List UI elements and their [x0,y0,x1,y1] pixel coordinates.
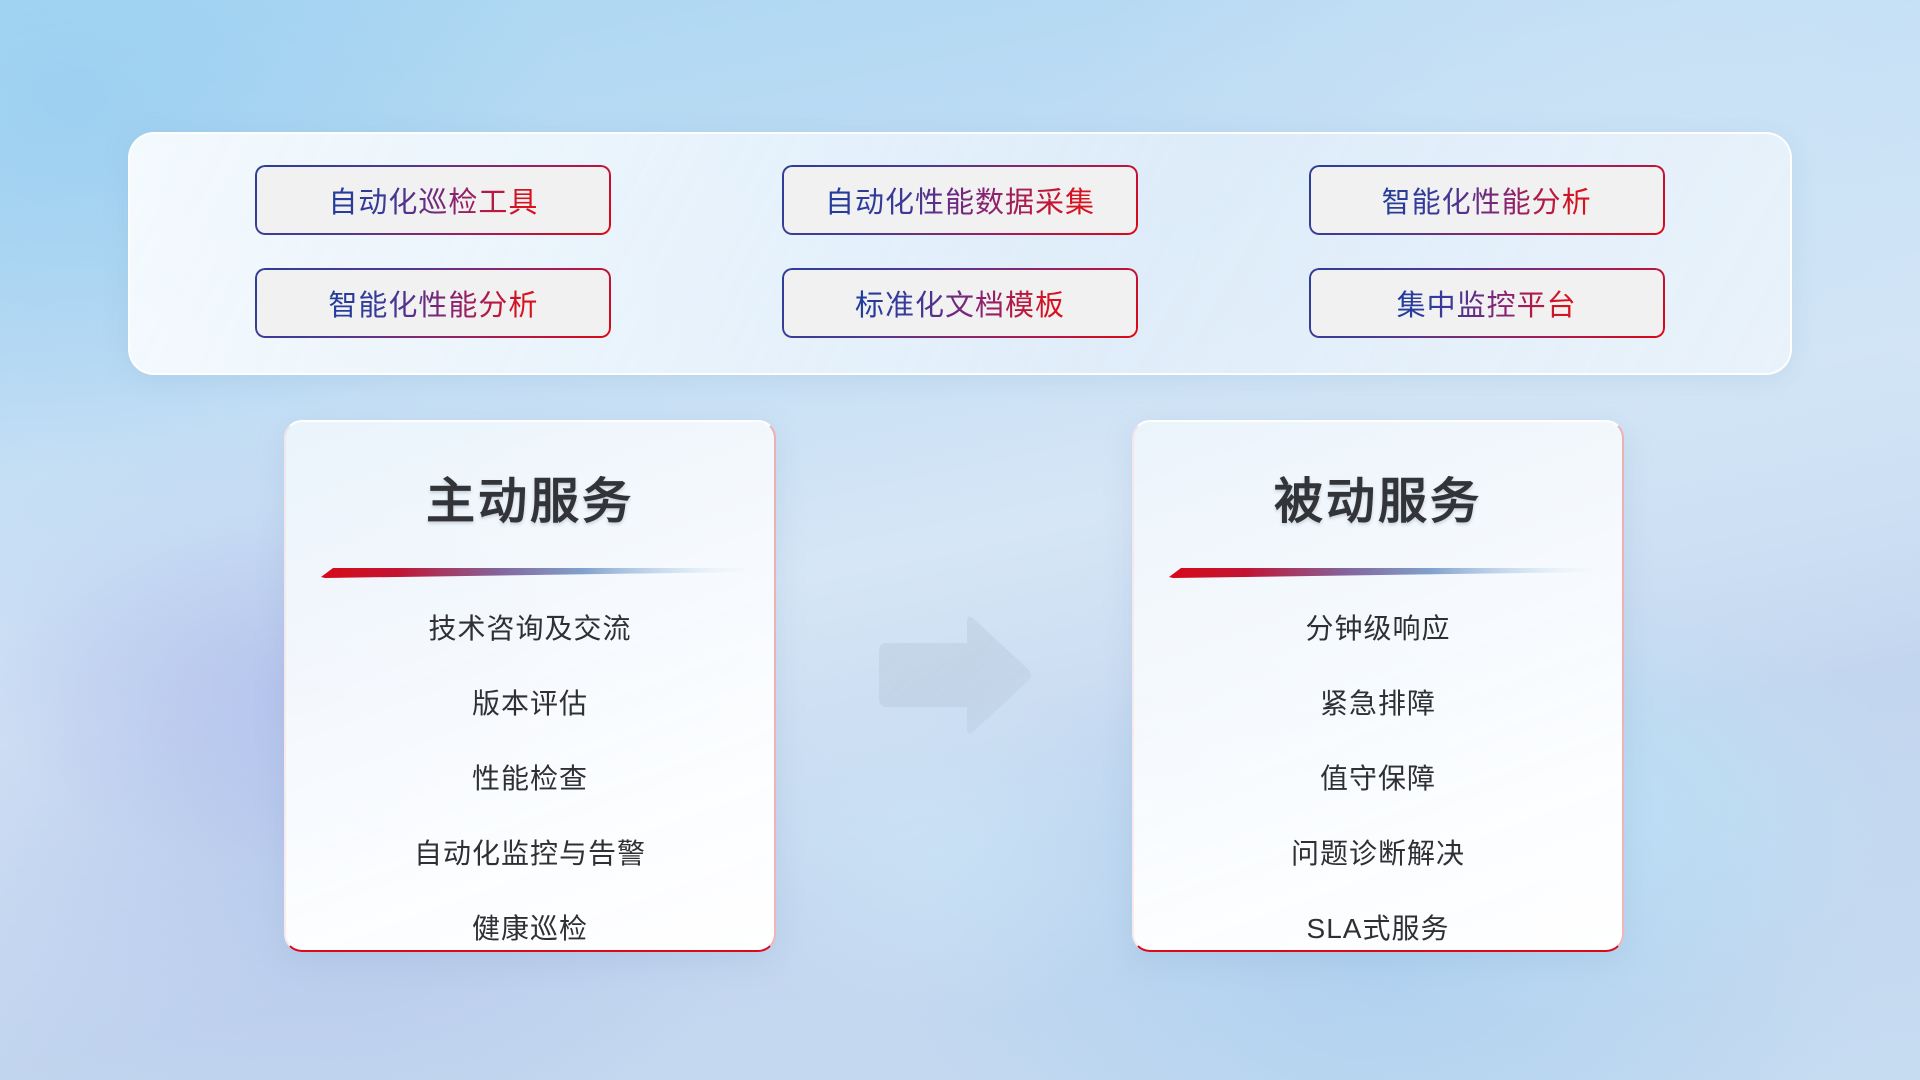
card-edge-right [774,422,776,952]
tag-label: 标准化文档模板 [855,282,1065,324]
list-item: 版本评估 [286,690,774,718]
card-title: 主动服务 [286,462,774,533]
diagram-canvas: 自动化巡检工具 自动化性能数据采集 智能化性能分析 智能化性能分析 标准化文档模… [0,0,1920,1080]
list-item: 技术咨询及交流 [286,615,774,643]
arrow-right-icon [871,615,1033,735]
list-item: 值守保障 [1134,765,1622,793]
service-item-list: 技术咨询及交流 版本评估 性能检查 自动化监控与告警 健康巡检 [286,615,774,943]
capability-tag-panel: 自动化巡检工具 自动化性能数据采集 智能化性能分析 智能化性能分析 标准化文档模… [128,132,1792,375]
list-item: SLA式服务 [1134,915,1622,943]
list-item: 健康巡检 [286,915,774,943]
tag-label: 智能化性能分析 [1382,179,1592,221]
card-divider [315,567,745,579]
tag-label: 智能化性能分析 [328,282,538,324]
tag-chip[interactable]: 智能化性能分析 [255,268,611,338]
tag-chip[interactable]: 智能化性能分析 [1309,165,1665,235]
service-card-active: 主动服务 技术咨询及交流 版本评估 性能检查 [284,420,776,952]
service-item-list: 分钟级响应 紧急排障 值守保障 问题诊断解决 SLA式服务 [1134,615,1622,943]
list-item: 自动化监控与告警 [286,840,774,868]
tag-chip[interactable]: 自动化巡检工具 [255,165,611,235]
tag-label: 集中监控平台 [1397,282,1577,324]
card-title: 被动服务 [1134,462,1622,533]
card-edge-right [1622,422,1624,952]
tag-chip[interactable]: 标准化文档模板 [782,268,1138,338]
tag-label: 自动化性能数据采集 [825,179,1095,221]
service-card-passive: 被动服务 分钟级响应 紧急排障 值守保障 [1132,420,1624,952]
tag-chip[interactable]: 集中监控平台 [1309,268,1665,338]
list-item: 紧急排障 [1134,690,1622,718]
list-item: 问题诊断解决 [1134,840,1622,868]
tag-label: 自动化巡检工具 [328,179,538,221]
list-item: 分钟级响应 [1134,615,1622,643]
tag-chip[interactable]: 自动化性能数据采集 [782,165,1138,235]
list-item: 性能检查 [286,765,774,793]
card-divider [1163,567,1593,579]
